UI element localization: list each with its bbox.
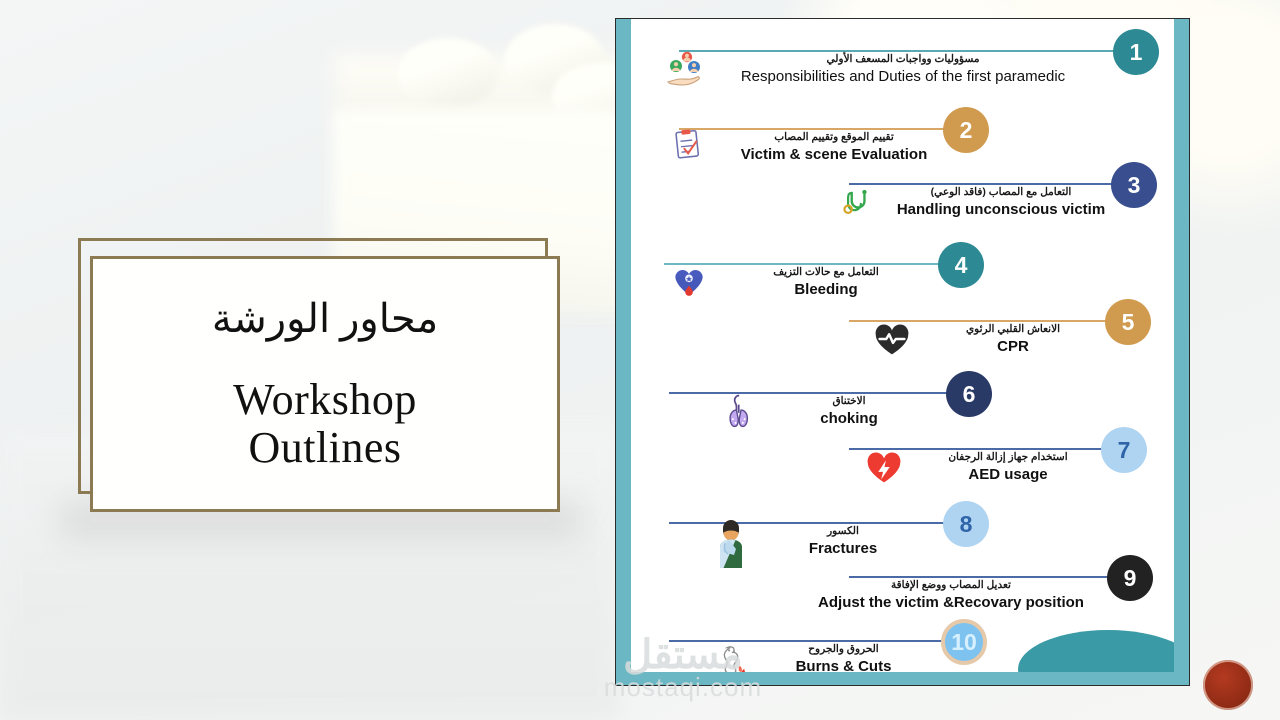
item-text: الكسور Fractures [753, 525, 933, 559]
slide-panel: 1 مسؤوليات وواجبات المسعف الأولي Respons… [615, 18, 1190, 686]
item-english: Victim & scene Evaluation [709, 145, 959, 165]
timeline-list: 1 مسؤوليات وواجبات المسعف الأولي Respons… [631, 19, 1174, 672]
blood-drop-heart-icon [669, 262, 713, 306]
item-text: الانعاش القلبي الرئوي CPR [913, 323, 1113, 357]
title-english-line1: Workshop [233, 376, 417, 424]
list-item[interactable]: 5 الانعاش القلبي الرئوي CPR [631, 311, 1174, 373]
connector-rule [849, 576, 1111, 578]
item-text: التعامل مع حالات التزيف Bleeding [711, 266, 941, 300]
step-badge: 4 [938, 242, 984, 288]
clipboard-checklist-icon [669, 127, 713, 171]
connector-rule [679, 128, 969, 130]
item-english: Responsibilities and Duties of the first… [703, 67, 1103, 87]
item-arabic: استخدام جهاز إزالة الرجفان [903, 451, 1113, 465]
item-english: Burns & Cuts [751, 657, 936, 672]
item-arabic: الاختناق [759, 395, 939, 409]
step-badge: 1 [1113, 29, 1159, 75]
connector-rule [679, 50, 1144, 52]
item-text: التعامل مع المصاب (فاقد الوعي) Handling … [876, 186, 1126, 220]
item-english: Handling unconscious victim [876, 200, 1126, 220]
item-arabic: تعديل المصاب ووضع الإفاقة [771, 579, 1131, 593]
title-card: محاور الورشة Workshop Outlines [78, 238, 560, 516]
item-arabic: تقييم الموقع وتقييم المصاب [709, 131, 959, 145]
list-item[interactable]: 7 استخدام جهاز إزالة الرجفان AED usage [631, 439, 1174, 501]
connector-rule [849, 183, 1114, 185]
item-arabic: التعامل مع حالات التزيف [711, 266, 941, 280]
connector-rule [669, 392, 949, 394]
seal-logo [1203, 660, 1253, 710]
slide-right-stripe [1174, 19, 1189, 685]
item-arabic: مسؤوليات وواجبات المسعف الأولي [703, 53, 1103, 67]
item-english: choking [759, 409, 939, 429]
item-english: Adjust the victim &Recovary position [771, 593, 1131, 613]
step-badge: 10 [941, 619, 987, 665]
item-english: AED usage [903, 465, 1113, 485]
list-item[interactable]: 9 تعديل المصاب ووضع الإفاقة Adjust the v… [631, 567, 1174, 629]
list-item[interactable]: 3 التعامل مع المصاب (فاقد الوعي) Handlin… [631, 174, 1174, 236]
list-item[interactable]: 2 تقييم الموقع وتقييم المصاب Victim & sc… [631, 119, 1174, 181]
step-badge: 6 [946, 371, 992, 417]
item-arabic: الحروق والجروح [751, 643, 936, 657]
item-arabic: الانعاش القلبي الرئوي [913, 323, 1113, 337]
slide-bottom-stripe [616, 672, 1189, 685]
item-english: Fractures [753, 539, 933, 559]
title-text-group: محاور الورشة Workshop Outlines [90, 256, 560, 512]
item-text: تعديل المصاب ووضع الإفاقة Adjust the vic… [771, 579, 1131, 613]
aed-heart-bolt-icon [863, 447, 907, 491]
item-arabic: الكسور [753, 525, 933, 539]
title-english-line2: Outlines [233, 424, 417, 472]
title-arabic: محاور الورشة [212, 296, 438, 342]
item-arabic: التعامل مع المصاب (فاقد الوعي) [876, 186, 1126, 200]
item-text: مسؤوليات وواجبات المسعف الأولي Responsib… [703, 53, 1103, 87]
burn-flame-icon [711, 639, 755, 672]
arm-sling-person-icon [709, 517, 753, 569]
item-english: Bleeding [711, 280, 941, 300]
heart-pulse-icon [871, 319, 915, 363]
item-text: استخدام جهاز إزالة الرجفان AED usage [903, 451, 1113, 485]
lego-stud [398, 38, 498, 108]
slide-left-stripe [616, 19, 631, 685]
title-english: Workshop Outlines [233, 376, 417, 471]
item-text: الاختناق choking [759, 395, 939, 429]
item-text: تقييم الموقع وتقييم المصاب Victim & scen… [709, 131, 959, 165]
list-item[interactable]: 6 الاختناق choking [631, 383, 1174, 445]
list-item[interactable]: 4 التعامل مع حالات التزيف Bleeding [631, 254, 1174, 316]
list-item[interactable]: 1 مسؤوليات وواجبات المسعف الأولي Respons… [631, 41, 1174, 103]
list-item[interactable]: 8 الكسور Fractures [631, 513, 1174, 575]
item-english: CPR [913, 337, 1113, 357]
item-text: الحروق والجروح Burns & Cuts [751, 643, 936, 672]
step-badge: 8 [943, 501, 989, 547]
